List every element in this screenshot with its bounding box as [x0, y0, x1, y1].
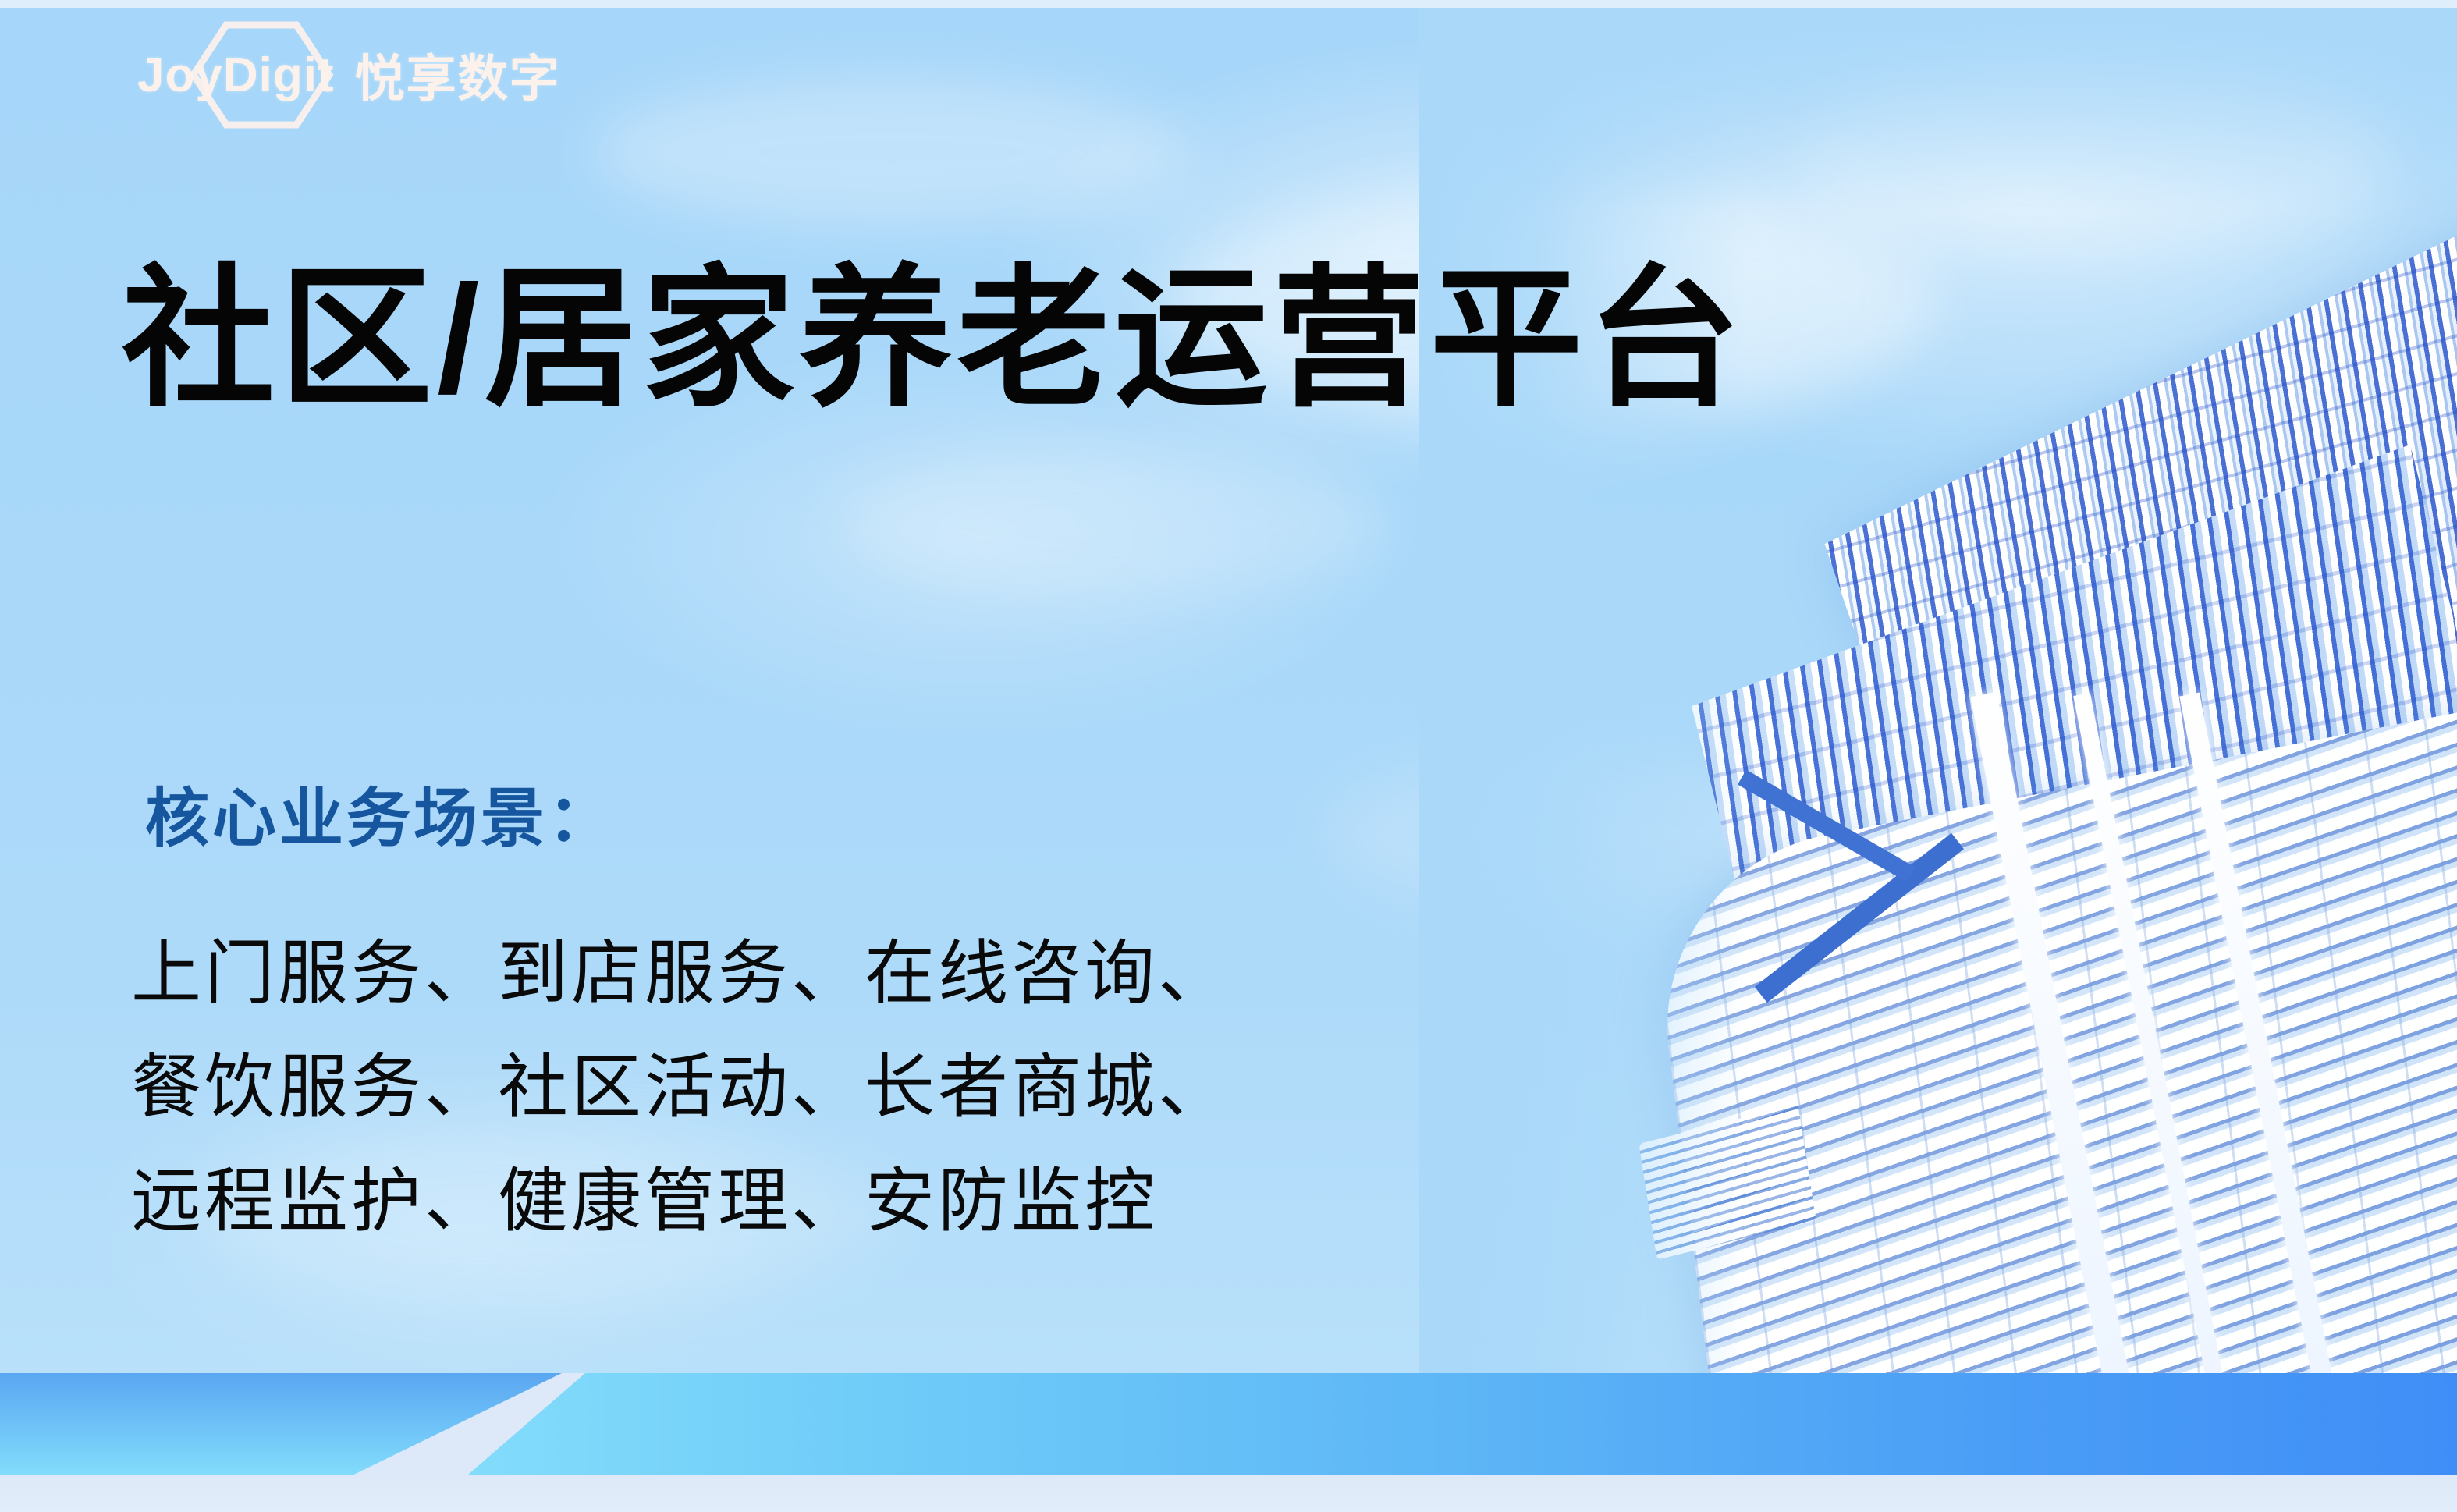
brand-logo: JoyDigit 悦享数字: [137, 33, 561, 117]
photo-edge-fade: [1419, 8, 1747, 1373]
top-edge-strip: [0, 0, 2457, 8]
ribbon-main-segment: [468, 1373, 2457, 1475]
logo-chinese-text: 悦享数字: [355, 39, 561, 111]
logo-latin-text: JoyDigit: [137, 48, 335, 103]
skyscraper-photo: [1419, 8, 2457, 1373]
scenario-line: 餐饮服务、社区活动、长者商城、: [131, 1031, 1231, 1145]
ribbon-footer-strip: [0, 1475, 2457, 1512]
bottom-ribbon: [0, 1373, 2457, 1512]
scenario-line: 远程监护、健康管理、安防监控: [131, 1145, 1231, 1259]
cloud-shape: [843, 445, 1389, 601]
cloud-shape: [593, 78, 1186, 226]
section-label: 核心业务场景：: [145, 766, 615, 859]
slide-root: JoyDigit 悦享数字 社区/居家养老运营平台 核心业务场景： 上门服务、到…: [0, 0, 2457, 1512]
scenario-list: 上门服务、到店服务、在线咨询、 餐饮服务、社区活动、长者商城、 远程监护、健康管…: [131, 917, 1231, 1258]
photo-top-fade: [1419, 8, 2457, 211]
scenario-line: 上门服务、到店服务、在线咨询、: [131, 917, 1231, 1031]
page-title: 社区/居家养老运营平台: [122, 259, 1745, 420]
